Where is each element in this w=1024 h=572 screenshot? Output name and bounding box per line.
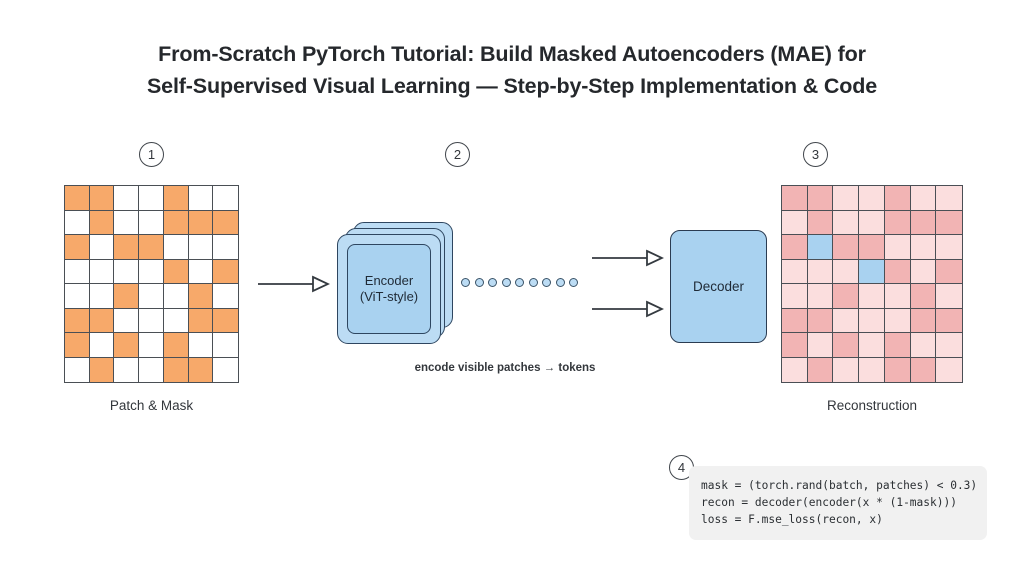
patch-cell-r6-c5 [164,309,189,334]
recon-cell-r2-c1 [782,211,808,236]
patch-cell-r3-c6 [189,235,214,260]
patch-cell-r7-c2 [90,333,115,358]
recon-cell-r1-c1 [782,186,808,211]
recon-cell-r6-c6 [911,309,937,334]
patch-cell-r8-c2 [90,358,115,383]
recon-cell-r3-c1 [782,235,808,260]
decoder-label: Decoder [693,279,744,294]
recon-cell-r5-c4 [859,284,885,309]
patch-cell-r2-c6 [189,211,214,236]
recon-cell-r7-c1 [782,333,808,358]
patch-cell-r1-c1 [65,186,90,211]
code-snippet: mask = (torch.rand(batch, patches) < 0.3… [689,466,987,540]
token-dot-5 [515,278,524,287]
token-dot-4 [502,278,511,287]
patch-cell-r4-c4 [139,260,164,285]
recon-cell-r1-c3 [833,186,859,211]
recon-cell-r3-c7 [936,235,962,260]
step-badge-3: 3 [803,142,828,167]
recon-cell-r6-c1 [782,309,808,334]
token-dots [461,278,578,287]
arrow-patch-to-encoder [258,272,330,296]
recon-cell-r2-c4 [859,211,885,236]
patch-cell-r3-c2 [90,235,115,260]
recon-cell-r6-c4 [859,309,885,334]
patch-cell-r1-c6 [189,186,214,211]
patch-cell-r8-c1 [65,358,90,383]
recon-cell-r7-c5 [885,333,911,358]
patch-cell-r4-c5 [164,260,189,285]
recon-cell-r8-c6 [911,358,937,383]
patch-cell-r4-c3 [114,260,139,285]
token-dot-6 [529,278,538,287]
recon-cell-r2-c3 [833,211,859,236]
patch-cell-r5-c6 [189,284,214,309]
recon-cell-r3-c4 [859,235,885,260]
patch-cell-r3-c1 [65,235,90,260]
recon-cell-r4-c2 [808,260,834,285]
recon-cell-r5-c5 [885,284,911,309]
title-line-1: From-Scratch PyTorch Tutorial: Build Mas… [0,38,1024,70]
recon-cell-r3-c2 [808,235,834,260]
patch-cell-r1-c4 [139,186,164,211]
recon-cell-r4-c6 [911,260,937,285]
recon-cell-r5-c6 [911,284,937,309]
patch-mask-caption: Patch & Mask [64,398,239,413]
recon-cell-r5-c7 [936,284,962,309]
recon-cell-r2-c6 [911,211,937,236]
recon-cell-r8-c4 [859,358,885,383]
patch-cell-r8-c6 [189,358,214,383]
patch-cell-r2-c3 [114,211,139,236]
encoder-inner-panel: Encoder (ViT-style) [347,244,431,334]
patch-cell-r1-c3 [114,186,139,211]
recon-cell-r3-c5 [885,235,911,260]
token-dot-2 [475,278,484,287]
patch-cell-r5-c1 [65,284,90,309]
recon-cell-r4-c7 [936,260,962,285]
patch-cell-r5-c3 [114,284,139,309]
token-dot-9 [569,278,578,287]
patch-cell-r8-c5 [164,358,189,383]
patch-cell-r4-c2 [90,260,115,285]
patch-cell-r2-c2 [90,211,115,236]
recon-cell-r2-c5 [885,211,911,236]
recon-cell-r5-c2 [808,284,834,309]
step-badge-2: 2 [445,142,470,167]
recon-cell-r7-c4 [859,333,885,358]
decoder-block: Decoder [670,230,767,343]
token-dot-8 [556,278,565,287]
recon-cell-r8-c5 [885,358,911,383]
recon-cell-r1-c5 [885,186,911,211]
code-line-3: loss = F.mse_loss(recon, x) [701,511,975,528]
patch-cell-r7-c5 [164,333,189,358]
step-badge-1: 1 [139,142,164,167]
encoder-block: Encoder (ViT-style) [337,222,457,344]
patch-cell-r4-c6 [189,260,214,285]
recon-cell-r4-c1 [782,260,808,285]
recon-cell-r6-c5 [885,309,911,334]
patch-cell-r1-c2 [90,186,115,211]
patch-cell-r8-c7 [213,358,238,383]
patch-cell-r2-c4 [139,211,164,236]
recon-cell-r4-c4 [859,260,885,285]
token-dot-7 [542,278,551,287]
recon-cell-r6-c3 [833,309,859,334]
patch-cell-r6-c1 [65,309,90,334]
recon-cell-r8-c2 [808,358,834,383]
patch-cell-r7-c7 [213,333,238,358]
patch-cell-r3-c5 [164,235,189,260]
patch-cell-r7-c3 [114,333,139,358]
patch-cell-r4-c1 [65,260,90,285]
patch-cell-r6-c3 [114,309,139,334]
recon-cell-r3-c3 [833,235,859,260]
token-dot-3 [488,278,497,287]
page-title: From-Scratch PyTorch Tutorial: Build Mas… [0,38,1024,102]
encoder-caption: encode visible patches → tokens [380,362,630,374]
recon-cell-r8-c3 [833,358,859,383]
recon-cell-r7-c3 [833,333,859,358]
patch-cell-r5-c2 [90,284,115,309]
recon-cell-r1-c7 [936,186,962,211]
recon-cell-r4-c3 [833,260,859,285]
recon-cell-r6-c7 [936,309,962,334]
patch-cell-r6-c2 [90,309,115,334]
recon-cell-r3-c6 [911,235,937,260]
patch-cell-r7-c1 [65,333,90,358]
reconstruction-grid [781,185,963,383]
recon-cell-r8-c1 [782,358,808,383]
recon-cell-r7-c2 [808,333,834,358]
recon-cell-r8-c7 [936,358,962,383]
token-dot-1 [461,278,470,287]
recon-cell-r2-c7 [936,211,962,236]
patch-cell-r5-c4 [139,284,164,309]
code-line-1: mask = (torch.rand(batch, patches) < 0.3… [701,477,975,494]
recon-cell-r7-c7 [936,333,962,358]
recon-cell-r6-c2 [808,309,834,334]
code-line-2: recon = decoder(encoder(x * (1-mask))) [701,494,975,511]
patch-cell-r3-c7 [213,235,238,260]
patch-cell-r7-c4 [139,333,164,358]
recon-cell-r7-c6 [911,333,937,358]
patch-mask-grid [64,185,239,383]
patch-cell-r1-c5 [164,186,189,211]
patch-cell-r6-c6 [189,309,214,334]
recon-cell-r5-c3 [833,284,859,309]
patch-cell-r3-c4 [139,235,164,260]
recon-cell-r2-c2 [808,211,834,236]
patch-cell-r4-c7 [213,260,238,285]
patch-cell-r2-c1 [65,211,90,236]
patch-cell-r8-c3 [114,358,139,383]
patch-cell-r5-c7 [213,284,238,309]
encoder-label-line-1: Encoder [365,273,413,289]
patch-cell-r3-c3 [114,235,139,260]
patch-cell-r6-c4 [139,309,164,334]
arrow-encoder-to-decoder-top [592,246,664,270]
encoder-layer-front: Encoder (ViT-style) [337,234,441,344]
patch-cell-r2-c5 [164,211,189,236]
patch-cell-r6-c7 [213,309,238,334]
recon-cell-r4-c5 [885,260,911,285]
arrow-encoder-to-decoder-bottom [592,297,664,321]
encoder-label-line-2: (ViT-style) [360,289,418,305]
patch-cell-r1-c7 [213,186,238,211]
patch-cell-r7-c6 [189,333,214,358]
reconstruction-caption: Reconstruction [781,398,963,413]
title-line-2: Self-Supervised Visual Learning — Step-b… [0,70,1024,102]
recon-cell-r1-c2 [808,186,834,211]
patch-cell-r8-c4 [139,358,164,383]
patch-cell-r5-c5 [164,284,189,309]
recon-cell-r1-c4 [859,186,885,211]
recon-cell-r1-c6 [911,186,937,211]
patch-cell-r2-c7 [213,211,238,236]
recon-cell-r5-c1 [782,284,808,309]
